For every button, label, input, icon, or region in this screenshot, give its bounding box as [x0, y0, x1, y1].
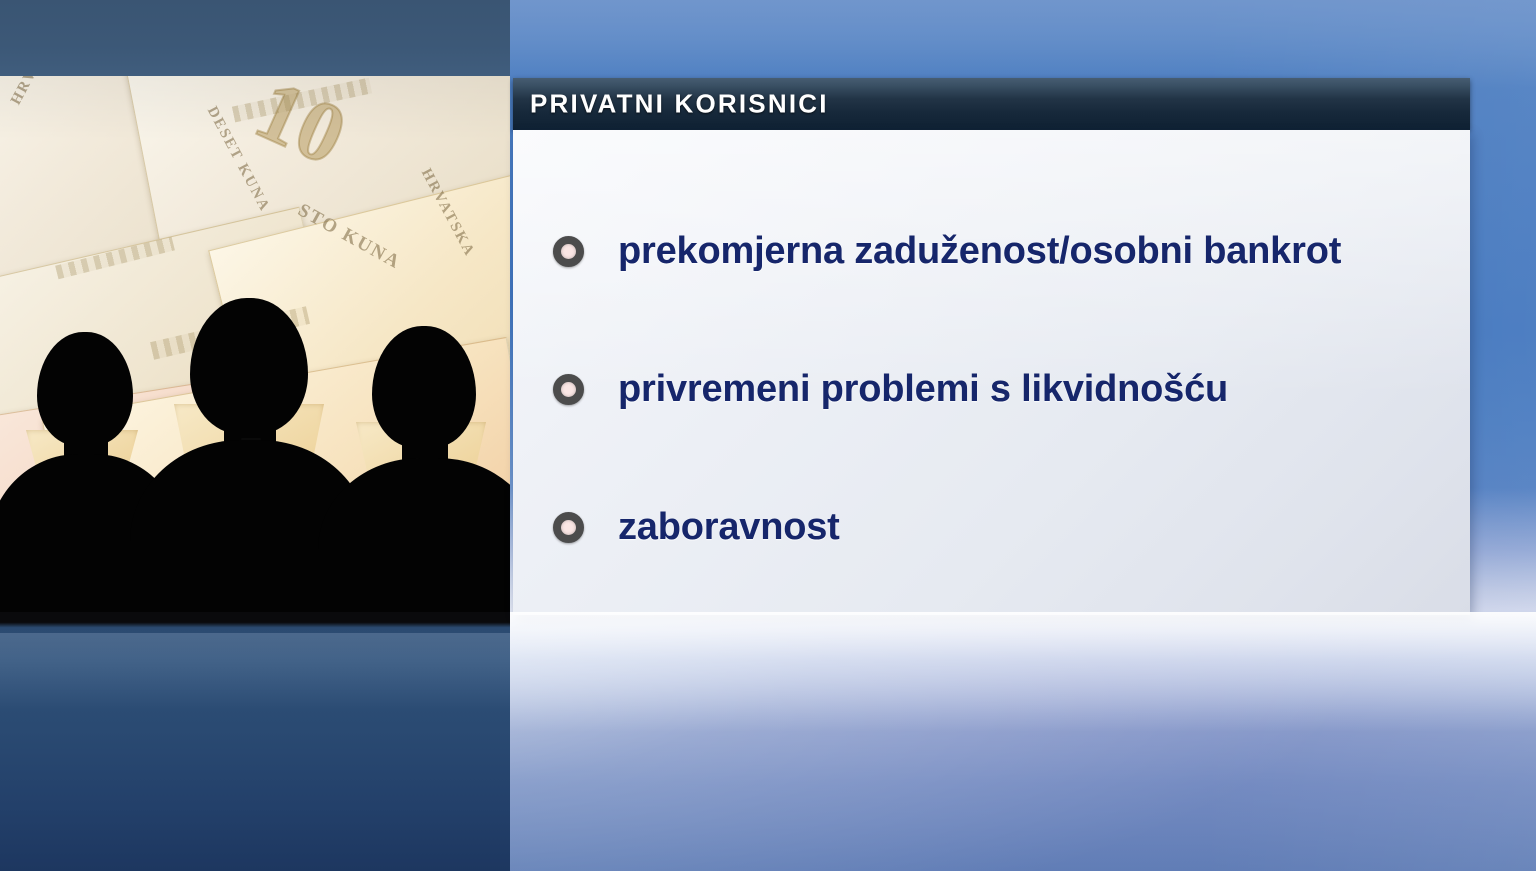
neck: [402, 422, 448, 462]
panel-title-bar: PRIVATNI KORISNICI: [513, 78, 1470, 130]
torso: [318, 458, 510, 612]
ring-bullet-icon: [553, 512, 584, 543]
left-top-slate-band: [0, 0, 510, 76]
list-item: zaboravnost: [553, 484, 1470, 570]
broadcast-slide: HRVATSKA NARODNA BANKA DESET KUNA 10 STO…: [0, 0, 1536, 871]
silhouette-person-right: [330, 312, 510, 612]
kuna-banknotes-photo: HRVATSKA NARODNA BANKA DESET KUNA 10 STO…: [0, 76, 510, 612]
list-item: prekomjerna zaduženost/osobni bankrot: [553, 208, 1470, 294]
left-image-column: HRVATSKA NARODNA BANKA DESET KUNA 10 STO…: [0, 0, 510, 871]
ring-bullet-icon: [553, 236, 584, 267]
list-item-label: prekomjerna zaduženost/osobni bankrot: [618, 230, 1341, 273]
content-panel: PRIVATNI KORISNICI prekomjerna zaduženos…: [513, 78, 1470, 615]
ring-bullet-icon: [553, 374, 584, 405]
page-title: PRIVATNI KORISNICI: [530, 89, 829, 120]
panel-body: prekomjerna zaduženost/osobni bankrot pr…: [513, 130, 1470, 615]
list-item-label: privremeni problemi s likvidnošću: [618, 368, 1228, 411]
left-bottom-blue-band: [0, 612, 510, 871]
businessmen-silhouettes: [0, 312, 510, 612]
list-item: privremeni problemi s likvidnošću: [553, 346, 1470, 432]
list-item-label: zaboravnost: [618, 506, 840, 549]
bullet-list: prekomjerna zaduženost/osobni bankrot pr…: [513, 130, 1470, 570]
